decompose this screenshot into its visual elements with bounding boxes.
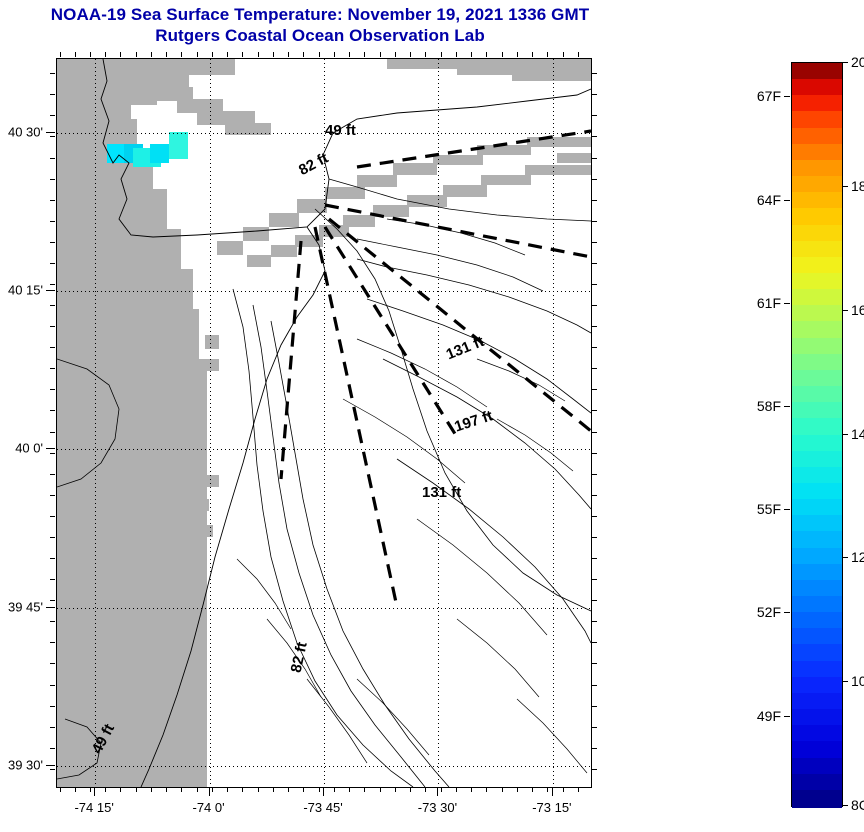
x-axis-minor-tick-top (120, 52, 121, 57)
x-axis-minor-tick-top (441, 52, 442, 57)
x-axis-minor-tick-top (486, 52, 487, 57)
x-axis-minor-tick-top (456, 52, 457, 57)
page-title: NOAA-19 Sea Surface Temperature: Novembe… (0, 4, 640, 25)
y-axis-minor-tick (50, 769, 55, 770)
y-axis-label: 40 30' (0, 124, 43, 139)
y-axis-minor-tick (50, 368, 55, 369)
colorbar-label-celsius: 20C (851, 54, 864, 70)
y-axis-minor-tick (50, 200, 55, 201)
y-axis-major-tick (46, 290, 55, 291)
x-axis-minor-tick-top (75, 52, 76, 57)
x-axis-label: -73 15' (532, 800, 571, 815)
bathymetry-detail-e (417, 519, 547, 635)
graticule-meridian (553, 59, 554, 787)
x-axis-minor-tick (486, 787, 487, 792)
y-axis-minor-tick (50, 73, 55, 74)
colorbar-tick-f (784, 406, 790, 407)
x-axis-minor-tick (258, 787, 259, 792)
y-axis-minor-tick (50, 642, 55, 643)
depth-contour-82ft-b (233, 289, 413, 787)
x-axis-minor-tick-top (319, 52, 320, 57)
x-axis-minor-tick (166, 787, 167, 792)
bathymetry-detail-h (237, 559, 291, 629)
y-axis-minor-tick (50, 474, 55, 475)
colorbar-label-celsius: 14C (851, 426, 864, 442)
x-axis-minor-tick-top (410, 52, 411, 57)
y-axis-minor-tick-right (592, 179, 597, 180)
y-axis-minor-tick (50, 389, 55, 390)
x-axis-minor-tick (242, 787, 243, 792)
x-axis-minor-tick (120, 787, 121, 792)
depth-contour-82ft (315, 209, 591, 611)
y-axis-minor-tick (50, 158, 55, 159)
y-axis-minor-tick-right (592, 537, 597, 538)
y-axis-minor-tick-right (592, 221, 597, 222)
x-axis-minor-tick-top (380, 52, 381, 57)
x-axis-major-tick (437, 787, 438, 796)
colorbar-label-fahrenheit: 52F (757, 604, 781, 620)
y-axis-major-tick (46, 607, 55, 608)
y-axis-minor-tick (50, 600, 55, 601)
x-axis-minor-tick (90, 787, 91, 792)
x-axis-minor-tick (151, 787, 152, 792)
y-axis-minor-tick (50, 621, 55, 622)
y-axis-minor-tick-right (592, 663, 597, 664)
colorbar-tick-f (784, 96, 790, 97)
x-axis-minor-tick-top (181, 52, 182, 57)
coastline-nj-ny (101, 59, 591, 237)
x-axis-minor-tick (410, 787, 411, 792)
x-axis-minor-tick (227, 787, 228, 792)
x-axis-minor-tick-top (60, 52, 61, 57)
y-axis-minor-tick (50, 727, 55, 728)
graticule-parallel (57, 133, 591, 134)
y-axis-minor-tick-right (592, 727, 597, 728)
depth-contour-197ft (271, 321, 449, 787)
x-axis-label: -74 15' (74, 800, 113, 815)
x-axis-minor-tick-top (395, 52, 396, 57)
x-axis-minor-tick (456, 787, 457, 792)
y-axis-minor-tick (50, 495, 55, 496)
y-axis-minor-tick-right (592, 368, 597, 369)
transect-line-1 (357, 131, 591, 167)
x-axis-major-tick (209, 787, 210, 796)
x-axis-major-tick (323, 787, 324, 796)
x-axis-minor-tick (197, 787, 198, 792)
y-axis-minor-tick (50, 305, 55, 306)
graticule-meridian (438, 59, 439, 787)
x-axis-minor-tick-top (349, 52, 350, 57)
y-axis-major-tick (46, 448, 55, 449)
transect-line-6 (281, 241, 301, 479)
graticule-parallel (57, 766, 591, 767)
colorbar-label-celsius: 10C (851, 673, 864, 689)
y-axis-minor-tick (50, 579, 55, 580)
colorbar-tick-c (842, 62, 848, 63)
colorbar-band (792, 790, 842, 808)
colorbar-tick-c (842, 310, 848, 311)
colorbar-tick-f (784, 303, 790, 304)
x-axis-minor-tick-top (212, 52, 213, 57)
x-axis-minor-tick-top (166, 52, 167, 57)
y-axis-minor-tick (50, 516, 55, 517)
y-axis-minor-tick-right (592, 621, 597, 622)
y-axis-minor-tick (50, 706, 55, 707)
x-axis-minor-tick (212, 787, 213, 792)
y-axis-minor-tick-right (592, 748, 597, 749)
bathymetry-detail-j (307, 679, 367, 763)
y-axis-label: 39 30' (0, 757, 43, 772)
x-axis-minor-tick-top (151, 52, 152, 57)
y-axis-minor-tick-right (592, 263, 597, 264)
y-axis-label: 39 45' (0, 599, 43, 614)
colorbar-label-celsius: 8C (851, 797, 864, 813)
depth-contour-131ft (253, 305, 425, 787)
x-axis-minor-tick (364, 787, 365, 792)
x-axis-minor-tick (349, 787, 350, 792)
x-axis-major-tick (94, 787, 95, 796)
y-axis-minor-tick-right (592, 453, 597, 454)
bathymetry-detail-g (497, 419, 573, 471)
x-axis-minor-tick-top (471, 52, 472, 57)
map-plot-area[interactable]: 49 ft82 ft131 ft197 ft131 ft82 ft49 ft (56, 58, 592, 788)
graticule-meridian (95, 59, 96, 787)
x-axis-minor-tick-top (547, 52, 548, 57)
y-axis-minor-tick (50, 432, 55, 433)
y-axis-major-tick (46, 132, 55, 133)
y-axis-minor-tick-right (592, 706, 597, 707)
y-axis-minor-tick-right (592, 242, 597, 243)
graticule-parallel (57, 608, 591, 609)
colorbar-label-fahrenheit: 58F (757, 398, 781, 414)
transect-line-5 (315, 227, 397, 607)
x-axis-minor-tick (395, 787, 396, 792)
x-axis-major-tick (552, 787, 553, 796)
x-axis-minor-tick (578, 787, 579, 792)
y-axis-minor-tick-right (592, 516, 597, 517)
y-axis-minor-tick (50, 284, 55, 285)
colorbar-tick-c (842, 681, 848, 682)
x-axis-minor-tick-top (334, 52, 335, 57)
x-axis-minor-tick (181, 787, 182, 792)
y-axis-minor-tick-right (592, 305, 597, 306)
y-axis-minor-tick-right (592, 158, 597, 159)
y-axis-minor-tick-right (592, 94, 597, 95)
y-axis-minor-tick (50, 410, 55, 411)
x-axis-minor-tick-top (288, 52, 289, 57)
y-axis-minor-tick (50, 326, 55, 327)
y-axis-minor-tick-right (592, 558, 597, 559)
x-axis-minor-tick (563, 787, 564, 792)
x-axis-minor-tick-top (303, 52, 304, 57)
y-axis-minor-tick (50, 663, 55, 664)
colorbar-label-celsius: 12C (851, 549, 864, 565)
colorbar-tick-c (842, 434, 848, 435)
coastline-delaware-bay (57, 359, 119, 487)
x-axis-minor-tick (60, 787, 61, 792)
x-axis-minor-tick (75, 787, 76, 792)
x-axis-minor-tick-top (425, 52, 426, 57)
bathymetry-detail-f (477, 359, 565, 401)
y-axis-label: 40 15' (0, 283, 43, 298)
x-axis-minor-tick-top (532, 52, 533, 57)
x-axis-minor-tick (334, 787, 335, 792)
x-axis-label: -73 30' (418, 800, 457, 815)
colorbar-gradient (791, 62, 843, 807)
y-axis-minor-tick-right (592, 432, 597, 433)
colorbar-label-celsius: 18C (851, 178, 864, 194)
page-subtitle: Rutgers Coastal Ocean Observation Lab (0, 25, 640, 46)
colorbar-label-celsius: 16C (851, 302, 864, 318)
colorbar-tick-c (842, 557, 848, 558)
bathymetry-detail-l (457, 619, 539, 697)
graticule-parallel (57, 449, 591, 450)
colorbar-tick-f (784, 509, 790, 510)
y-axis-minor-tick-right (592, 769, 597, 770)
x-axis-minor-tick-top (242, 52, 243, 57)
x-axis-minor-tick (319, 787, 320, 792)
x-axis-minor-tick (547, 787, 548, 792)
y-axis-minor-tick (50, 347, 55, 348)
x-axis-minor-tick (532, 787, 533, 792)
graticule-meridian (210, 59, 211, 787)
chart-title-block: NOAA-19 Sea Surface Temperature: Novembe… (0, 4, 640, 46)
y-axis-minor-tick (50, 221, 55, 222)
x-axis-minor-tick (380, 787, 381, 792)
y-axis-minor-tick (50, 242, 55, 243)
depth-contour-label: 131 ft (422, 484, 461, 501)
x-axis-minor-tick-top (258, 52, 259, 57)
coastline-nj-shore (141, 227, 325, 787)
y-axis-minor-tick-right (592, 115, 597, 116)
y-axis-major-tick (46, 765, 55, 766)
y-axis-minor-tick-right (592, 389, 597, 390)
x-axis-minor-tick-top (136, 52, 137, 57)
x-axis-minor-tick-top (273, 52, 274, 57)
y-axis-minor-tick-right (592, 474, 597, 475)
x-axis-minor-tick-top (105, 52, 106, 57)
y-axis-minor-tick-right (592, 600, 597, 601)
colorbar-tick-c (842, 186, 848, 187)
y-axis-minor-tick (50, 94, 55, 95)
y-axis-minor-tick-right (592, 642, 597, 643)
depth-contour-outer (383, 359, 591, 509)
x-axis-minor-tick-top (364, 52, 365, 57)
y-axis-minor-tick (50, 558, 55, 559)
y-axis-minor-tick (50, 115, 55, 116)
x-axis-minor-tick (517, 787, 518, 792)
graticule-parallel (57, 291, 591, 292)
x-axis-minor-tick (273, 787, 274, 792)
x-axis-minor-tick-top (90, 52, 91, 57)
colorbar-label-fahrenheit: 55F (757, 501, 781, 517)
y-axis-minor-tick-right (592, 495, 597, 496)
y-axis-minor-tick-right (592, 326, 597, 327)
depth-contour-49ft (329, 179, 591, 221)
y-axis-minor-tick (50, 748, 55, 749)
y-axis-minor-tick (50, 136, 55, 137)
colorbar-label-fahrenheit: 67F (757, 88, 781, 104)
x-axis-minor-tick-top (563, 52, 564, 57)
x-axis-minor-tick (136, 787, 137, 792)
y-axis-minor-tick (50, 453, 55, 454)
y-axis-label: 40 0' (0, 441, 43, 456)
y-axis-minor-tick (50, 685, 55, 686)
y-axis-minor-tick-right (592, 685, 597, 686)
temperature-colorbar[interactable]: 67F64F61F58F55F52F49F20C18C16C14C12C10C8… (791, 62, 841, 805)
x-axis-minor-tick (303, 787, 304, 792)
x-axis-minor-tick (425, 787, 426, 792)
x-axis-minor-tick (441, 787, 442, 792)
y-axis-minor-tick (50, 537, 55, 538)
colorbar-label-fahrenheit: 64F (757, 192, 781, 208)
y-axis-minor-tick (50, 179, 55, 180)
y-axis-minor-tick-right (592, 579, 597, 580)
colorbar-label-fahrenheit: 49F (757, 708, 781, 724)
x-axis-minor-tick-top (197, 52, 198, 57)
y-axis-minor-tick-right (592, 200, 597, 201)
x-axis-minor-tick-top (517, 52, 518, 57)
colorbar-label-fahrenheit: 61F (757, 295, 781, 311)
bathymetry-detail-b (387, 219, 525, 255)
x-axis-minor-tick-top (502, 52, 503, 57)
y-axis-minor-tick-right (592, 410, 597, 411)
colorbar-tick-f (784, 200, 790, 201)
y-axis-minor-tick-right (592, 136, 597, 137)
colorbar-tick-f (784, 612, 790, 613)
y-axis-minor-tick-right (592, 347, 597, 348)
x-axis-minor-tick-top (227, 52, 228, 57)
y-axis-minor-tick-right (592, 73, 597, 74)
y-axis-minor-tick (50, 263, 55, 264)
x-axis-minor-tick (105, 787, 106, 792)
x-axis-minor-tick-top (578, 52, 579, 57)
colorbar-tick-c (842, 805, 848, 806)
bathymetry-detail-m (517, 699, 587, 773)
colorbar-tick-f (784, 716, 790, 717)
x-axis-minor-tick (288, 787, 289, 792)
depth-contour-label: 49 ft (325, 122, 356, 139)
x-axis-label: -73 45' (303, 800, 342, 815)
y-axis-minor-tick-right (592, 284, 597, 285)
x-axis-minor-tick (502, 787, 503, 792)
x-axis-minor-tick (471, 787, 472, 792)
x-axis-label: -74 0' (193, 800, 225, 815)
